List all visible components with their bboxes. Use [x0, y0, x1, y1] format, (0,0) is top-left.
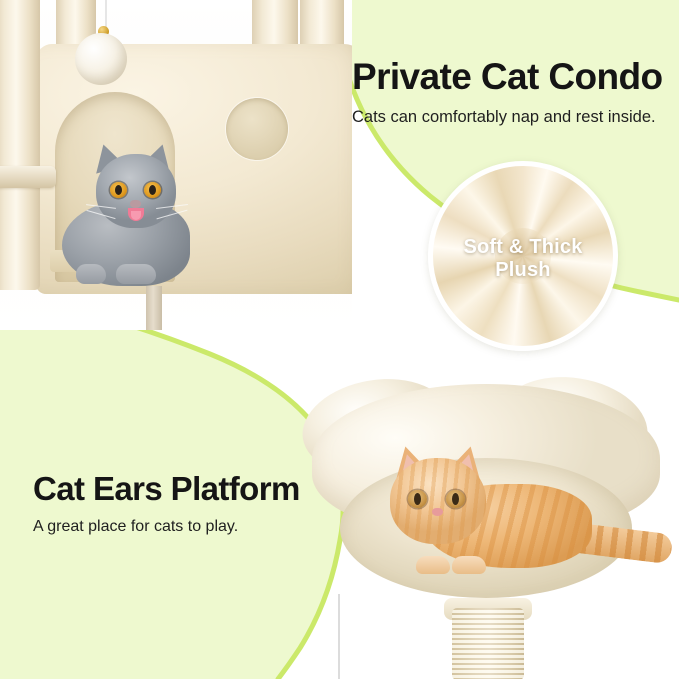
plush-fabric-inset: Soft & Thick Plush: [428, 161, 618, 351]
cat-tree-post-left: [0, 0, 40, 290]
orange-cat-pupil-left: [414, 493, 421, 505]
grey-cat-eye-right: [144, 182, 161, 198]
cat-condo-photo: [0, 0, 352, 330]
grey-cat-nose: [130, 200, 141, 208]
orange-cat-nose: [432, 508, 443, 516]
infographic-canvas: Soft & Thick Plush Private Cat Condo Cat…: [0, 0, 679, 679]
orange-cat-paw-right: [452, 556, 486, 574]
orange-cat-head: [390, 458, 486, 544]
platform-hanging-string: [338, 594, 340, 679]
condo-heading: Private Cat Condo: [352, 58, 663, 97]
pom-pom-toy-ball: [75, 33, 127, 85]
grey-cat-eye-left: [110, 182, 127, 198]
platform-heading: Cat Ears Platform: [33, 472, 300, 507]
cat-ears-platform-photo: [292, 372, 679, 679]
condo-subheading: Cats can comfortably nap and rest inside…: [352, 108, 656, 127]
orange-cat-paw-left: [416, 556, 450, 574]
grey-cat-paw-right: [116, 264, 156, 284]
sisal-scratching-post: [452, 608, 524, 679]
grey-cat-pupil-left: [115, 185, 122, 195]
orange-tabby-cat: [390, 444, 608, 580]
toy-string: [105, 0, 107, 28]
grey-cat: [60, 148, 200, 296]
condo-porthole-window: [226, 98, 288, 160]
grey-cat-paw-left: [76, 264, 106, 284]
plush-inset-label: Soft & Thick Plush: [433, 236, 613, 282]
platform-subheading: A great place for cats to play.: [33, 518, 238, 536]
grey-cat-pupil-right: [149, 185, 156, 195]
orange-cat-eye-left: [408, 490, 427, 508]
orange-cat-pupil-right: [452, 493, 459, 505]
cat-tree-post-collar: [0, 166, 56, 188]
orange-cat-eye-right: [446, 490, 465, 508]
